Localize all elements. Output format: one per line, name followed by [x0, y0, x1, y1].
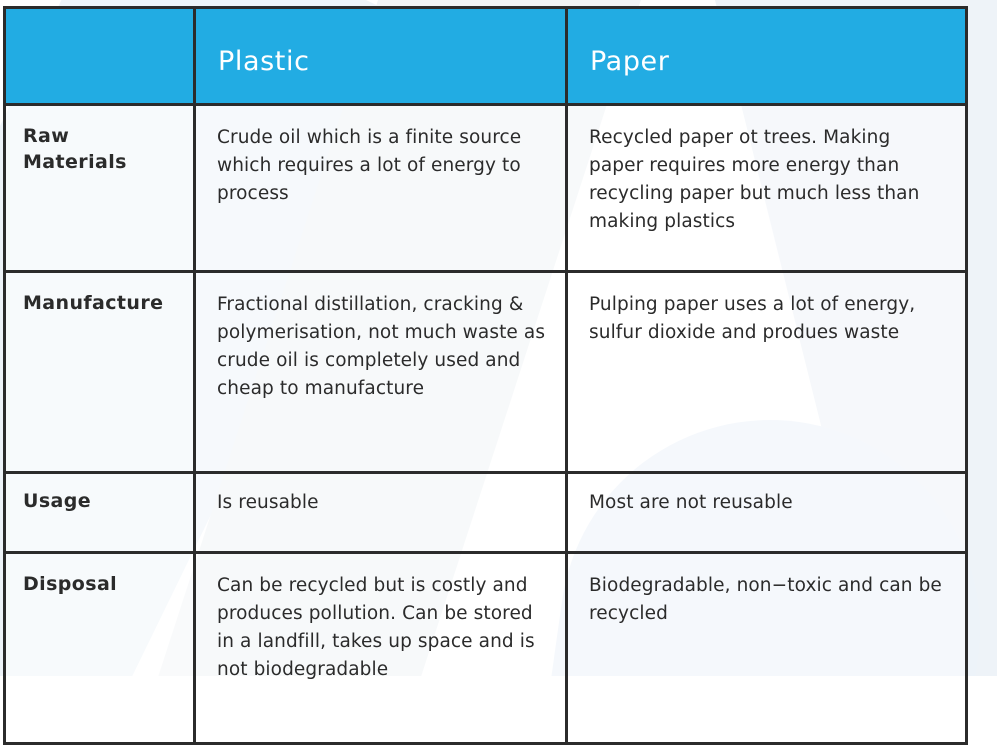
row-label-line-2: Materials: [23, 151, 127, 173]
table-row-raw-materials: Raw Materials Crude oil which is a finit…: [5, 105, 967, 272]
cell-usage-paper: Most are not reusable: [567, 473, 967, 553]
row-label-line-1: Raw: [23, 125, 69, 147]
cell-manufacture-paper: Pulping paper uses a lot of energy, sulf…: [567, 272, 967, 473]
cell-manufacture-plastic: Fractional distillation, cracking & poly…: [195, 272, 567, 473]
table-header: Plastic Paper: [5, 8, 967, 105]
row-label-line-1: Manufacture: [23, 292, 163, 314]
table-row-disposal: Disposal Can be recycled but is costly a…: [5, 553, 967, 744]
row-label-line-1: Usage: [23, 490, 91, 512]
table-row-manufacture: Manufacture Fractional distillation, cra…: [5, 272, 967, 473]
row-label-disposal: Disposal: [5, 553, 195, 744]
cell-text: Crude oil which is a finite source which…: [217, 124, 549, 208]
cell-raw-materials-paper: Recycled paper ot trees. Making paper re…: [567, 105, 967, 272]
cell-text: Most are not reusable: [589, 489, 949, 517]
cell-text: Can be recycled but is costly and produc…: [217, 572, 549, 684]
table-body: Raw Materials Crude oil which is a finit…: [5, 105, 967, 744]
comparison-table-container: Plastic Paper Raw Materials Crude oil wh…: [3, 6, 965, 745]
cell-text: Pulping paper uses a lot of energy, sulf…: [589, 291, 949, 347]
comparison-table: Plastic Paper Raw Materials Crude oil wh…: [3, 6, 968, 745]
header-label-plastic: Plastic: [218, 48, 565, 103]
cell-text: Is reusable: [217, 489, 549, 517]
cell-usage-plastic: Is reusable: [195, 473, 567, 553]
cell-disposal-plastic: Can be recycled but is costly and produc…: [195, 553, 567, 744]
cell-text: Recycled paper ot trees. Making paper re…: [589, 124, 949, 236]
cell-disposal-paper: Biodegradable, non−toxic and can be recy…: [567, 553, 967, 744]
header-cell-paper: Paper: [567, 8, 967, 105]
row-label-manufacture: Manufacture: [5, 272, 195, 473]
row-label-line-1: Disposal: [23, 573, 117, 595]
row-label-raw-materials: Raw Materials: [5, 105, 195, 272]
cell-text: Fractional distillation, cracking & poly…: [217, 291, 549, 403]
cell-text: Biodegradable, non−toxic and can be recy…: [589, 572, 949, 628]
row-label-usage: Usage: [5, 473, 195, 553]
header-label-paper: Paper: [590, 48, 965, 103]
table-row-usage: Usage Is reusable Most are not reusable: [5, 473, 967, 553]
header-cell-blank: [5, 8, 195, 105]
table-header-row: Plastic Paper: [5, 8, 967, 105]
header-label-blank: [6, 75, 193, 103]
cell-raw-materials-plastic: Crude oil which is a finite source which…: [195, 105, 567, 272]
header-cell-plastic: Plastic: [195, 8, 567, 105]
